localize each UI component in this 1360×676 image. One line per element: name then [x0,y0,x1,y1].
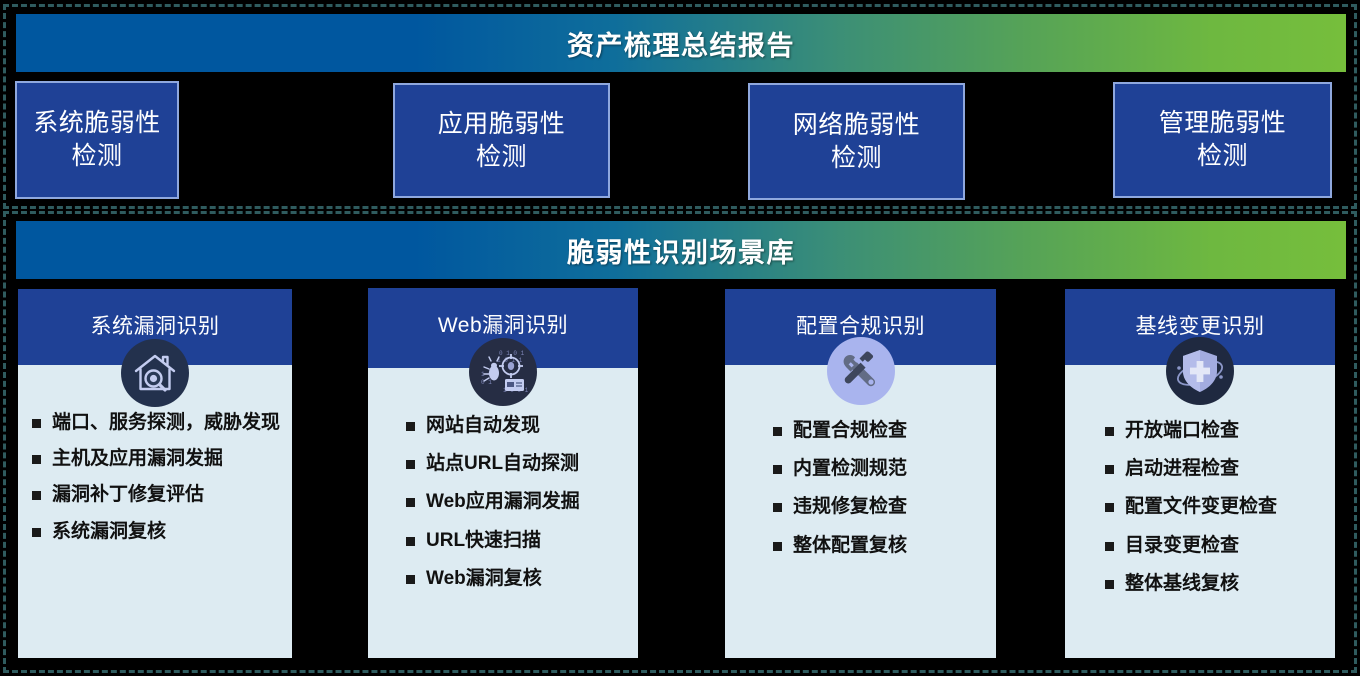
list-item: 目录变更检查 [1105,534,1325,557]
list-item: URL快速扫描 [406,529,628,552]
detect-box-network[interactable]: 网络脆弱性 检测 [748,83,965,200]
scenario-card-baseline-change-body: 开放端口检查 启动进程检查 配置文件变更检查 目录变更检查 整体基线复核 [1065,365,1335,658]
scenario-card-config-compliance-title: 配置合规识别 [796,310,925,340]
detect-box-system[interactable]: 系统脆弱性 检测 [15,81,179,199]
list-item: 漏洞补丁修复评估 [32,483,282,506]
house-magnifier-icon [121,339,189,407]
feature-list: 配置合规检查 内置检测规范 违规修复检查 整体配置复核 [773,419,986,572]
feature-list: 网站自动发现 站点URL自动探测 Web应用漏洞发掘 URL快速扫描 Web漏洞… [406,414,628,605]
scenario-card-baseline-change-header: 基线变更识别 [1065,289,1335,365]
detect-box-application-label: 应用脆弱性 检测 [438,108,566,174]
list-item: 违规修复检查 [773,495,986,518]
list-item: 内置检测规范 [773,457,986,480]
asset-report-banner-title: 资产梳理总结报告 [567,24,795,63]
scenario-card-system-vuln-header: 系统漏洞识别 [18,289,292,365]
feature-list: 端口、服务探测，威胁发现 主机及应用漏洞发掘 漏洞补丁修复评估 系统漏洞复核 [32,411,282,556]
scenario-card-baseline-change-title: 基线变更识别 [1136,310,1265,340]
list-item: 站点URL自动探测 [406,452,628,475]
list-item: Web漏洞复核 [406,567,628,590]
scenario-card-web-vuln-title: Web漏洞识别 [438,309,568,339]
list-item: 网站自动发现 [406,414,628,437]
scenario-card-web-vuln-body: 网站自动发现 站点URL自动探测 Web应用漏洞发掘 URL快速扫描 Web漏洞… [368,368,638,658]
scenario-card-system-vuln-title: 系统漏洞识别 [91,310,220,340]
scenario-card-web-vuln[interactable]: Web漏洞识别 0 1 0 1 1 0 1 1 1 0 0 1 1 0 0 1 [368,288,638,658]
shield-plus-icon [1166,337,1234,405]
asset-report-banner: 资产梳理总结报告 [16,14,1346,72]
list-item: 端口、服务探测，威胁发现 [32,411,282,434]
detect-box-application[interactable]: 应用脆弱性 检测 [393,83,610,198]
detect-box-network-label: 网络脆弱性 检测 [793,109,921,175]
scenario-card-web-vuln-header: Web漏洞识别 0 1 0 1 1 0 1 1 1 0 0 1 1 0 0 1 [368,288,638,368]
list-item: 系统漏洞复核 [32,520,282,543]
slide-root: 资产梳理总结报告 系统脆弱性 检测 应用脆弱性 检测 网络脆弱性 检测 管理脆弱… [0,0,1360,676]
scenario-card-config-compliance[interactable]: 配置合规识别 配置合规检 [725,289,996,658]
list-item: 整体基线复核 [1105,572,1325,595]
scenario-card-config-compliance-body: 配置合规检查 内置检测规范 违规修复检查 整体配置复核 [725,365,996,658]
detect-box-system-label: 系统脆弱性 检测 [33,107,161,173]
bug-target-binary-icon: 0 1 0 1 1 0 1 1 1 0 0 1 1 0 0 1 [469,338,537,406]
detect-box-management[interactable]: 管理脆弱性 检测 [1113,82,1332,198]
list-item: Web应用漏洞发掘 [406,490,628,513]
list-item: 主机及应用漏洞发掘 [32,447,282,470]
scenario-card-baseline-change[interactable]: 基线变更识别 开放端口检查 启动进程检查 [1065,289,1335,658]
list-item: 配置合规检查 [773,419,986,442]
scenario-library-banner: 脆弱性识别场景库 [16,221,1346,279]
wrench-hammer-icon [827,337,895,405]
scenario-card-system-vuln-body: 端口、服务探测，威胁发现 主机及应用漏洞发掘 漏洞补丁修复评估 系统漏洞复核 [18,365,292,658]
list-item: 启动进程检查 [1105,457,1325,480]
scenario-card-system-vuln[interactable]: 系统漏洞识别 端口、服务探测，威胁发现 主机及应用漏洞发掘 漏洞补 [18,289,292,658]
list-item: 配置文件变更检查 [1105,495,1325,518]
scenario-card-config-compliance-header: 配置合规识别 [725,289,996,365]
list-item: 开放端口检查 [1105,419,1325,442]
feature-list: 开放端口检查 启动进程检查 配置文件变更检查 目录变更检查 整体基线复核 [1105,419,1325,610]
detect-box-management-label: 管理脆弱性 检测 [1159,107,1287,173]
list-item: 整体配置复核 [773,534,986,557]
scenario-library-banner-title: 脆弱性识别场景库 [567,231,795,270]
